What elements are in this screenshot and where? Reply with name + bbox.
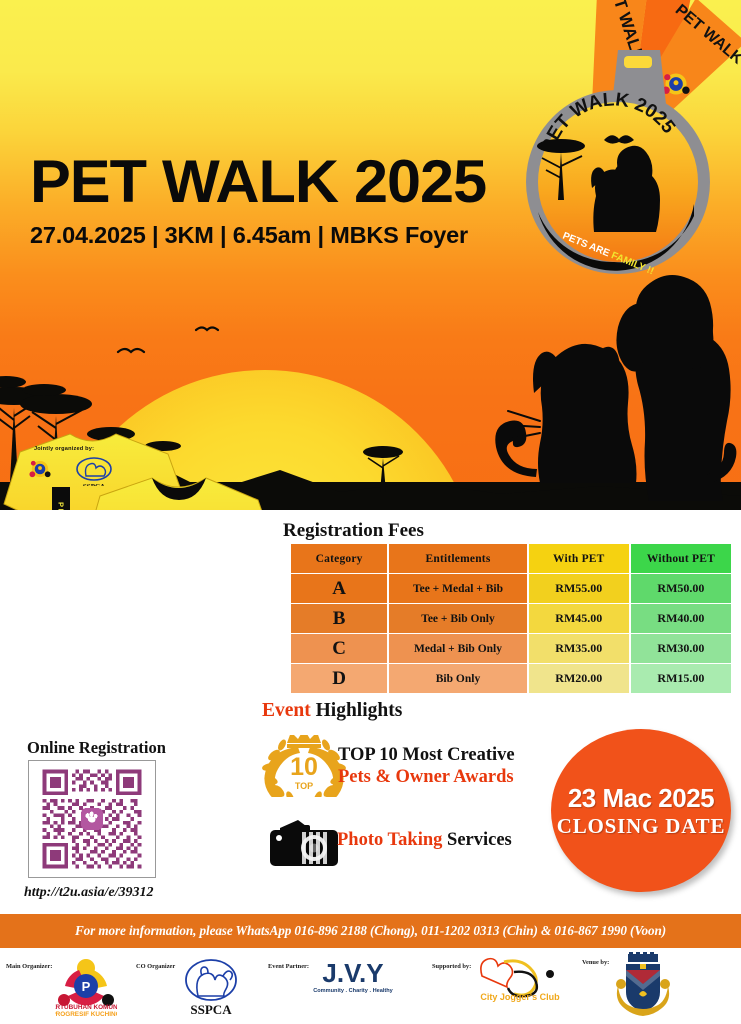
table-row: D Bib Only RM20.00 RM15.00 — [291, 664, 731, 693]
closing-date-value: 23 Mac 2025 — [568, 783, 714, 814]
online-registration-heading: Online Registration — [27, 738, 166, 758]
cell-with-pet: RM45.00 — [529, 604, 629, 633]
highlight-text-top10: TOP 10 Most Creative Pets & Owner Awards — [338, 744, 515, 788]
cell-without-pet: RM15.00 — [631, 664, 731, 693]
event-highlights-heading-accent: Event — [262, 700, 311, 721]
sponsor-label: Main Organizer: — [6, 963, 52, 970]
medal-graphic: PET WALK 20 PET WALK PET WALK 202 — [500, 0, 741, 282]
tee-sponsor-logos: SSPCA — [22, 452, 122, 486]
cell-entitlements: Medal + Bib Only — [389, 634, 526, 663]
sponsor-name-line2: PROGRESIF KUCHING — [55, 1011, 117, 1018]
contact-text: For more information, please WhatsApp 01… — [75, 923, 666, 939]
cell-entitlements: Tee + Medal + Bib — [389, 574, 526, 603]
registration-fees-heading: Registration Fees — [283, 520, 424, 542]
sponsor-name-line1: PERTUBUHAN KOMUNITI — [55, 1004, 117, 1011]
sponsor-name-line1: J.V.Y — [322, 958, 383, 988]
highlight-text-photo: Photo Taking Services — [337, 830, 512, 851]
closing-date-badge: 23 Mac 2025 CLOSING DATE — [551, 729, 731, 892]
cell-without-pet: RM30.00 — [631, 634, 731, 663]
pet-walk-poster: PET WALK 20 PET WALK PET WALK 202 — [0, 0, 741, 1024]
registration-url[interactable]: http://t2u.asia/e/39312 — [24, 885, 154, 901]
photo-rest: Services — [442, 830, 511, 850]
event-highlights-heading: Event Highlights — [262, 700, 402, 722]
cell-without-pet: RM40.00 — [631, 604, 731, 633]
cell-category: B — [291, 604, 387, 633]
cell-without-pet: RM50.00 — [631, 574, 731, 603]
col-header-without-pet: Without PET — [631, 544, 731, 573]
cell-entitlements: Bib Only — [389, 664, 526, 693]
sponsor-label: Event Partner: — [268, 963, 309, 970]
highlight-line1: TOP 10 Most Creative — [338, 744, 515, 766]
photo-accent: Photo Taking — [337, 830, 442, 850]
cell-category: D — [291, 664, 387, 693]
mbks-crest-icon — [612, 952, 674, 1020]
cat-dog-silhouette — [470, 255, 741, 510]
col-header-category: Category — [291, 544, 387, 573]
sponsor-label: CO Organizer — [136, 963, 175, 970]
city-joggers-club-logo-icon: City Jogger's Club — [474, 956, 566, 1006]
svg-text:P: P — [82, 979, 91, 994]
cell-with-pet: RM35.00 — [529, 634, 629, 663]
cell-entitlements: Tee + Bib Only — [389, 604, 526, 633]
sponsor-event-partner: Event Partner: J.V.Y Community . Charity… — [268, 956, 394, 1002]
col-header-entitlements: Entitlements — [389, 544, 526, 573]
event-highlights-heading-rest: Highlights — [311, 700, 403, 721]
top10-word: TOP — [295, 781, 313, 791]
table-row: C Medal + Bib Only RM35.00 RM30.00 — [291, 634, 731, 663]
sponsor-label: Supported by: — [432, 963, 471, 970]
cell-with-pet: RM20.00 — [529, 664, 629, 693]
sponsor-name-line2: Community . Charity . Healthy — [313, 988, 393, 994]
sponsor-venue-by: Venue by: — [582, 952, 674, 1020]
table-row: A Tee + Medal + Bib RM55.00 RM50.00 — [291, 574, 731, 603]
sponsor-name-line1: SSPCA — [191, 1002, 233, 1017]
top10-number: 10 — [290, 753, 318, 781]
jvy-logo-icon: J.V.Y Community . Charity . Healthy — [312, 956, 394, 1002]
cell-category: C — [291, 634, 387, 663]
highlight-line2: Pets & Owner Awards — [338, 766, 515, 788]
sponsor-name-line1: City Jogger's Club — [481, 992, 561, 1002]
event-details: 27.04.2025 | 3KM | 6.45am | MBKS Foyer — [30, 222, 477, 249]
sponsor-co-organizer: CO Organizer SSPCA — [136, 956, 244, 1018]
sponsor-supported-by: Supported by: City Jogger's Club — [432, 956, 566, 1006]
closing-date-label: CLOSING DATE — [557, 814, 726, 839]
contact-bar: For more information, please WhatsApp 01… — [0, 914, 741, 948]
page-title: PET WALK 2025 — [30, 152, 486, 212]
sponsor-main-organizer: Main Organizer: P PERTUBUHAN KOMUNITI PR… — [6, 956, 117, 1018]
qr-code[interactable] — [28, 760, 156, 878]
cell-category: A — [291, 574, 387, 603]
table-header-row: Category Entitlements With PET Without P… — [291, 544, 731, 573]
sponsor-footer: Main Organizer: P PERTUBUHAN KOMUNITI PR… — [0, 948, 741, 1024]
pkpk-logo-icon: P PERTUBUHAN KOMUNITI PROGRESIF KUCHING — [55, 956, 117, 1018]
sponsor-label: Venue by: — [582, 959, 609, 966]
cell-with-pet: RM55.00 — [529, 574, 629, 603]
sspca-logo-icon: SSPCA — [178, 956, 244, 1018]
table-row: B Tee + Bib Only RM45.00 RM40.00 — [291, 604, 731, 633]
col-header-with-pet: With PET — [529, 544, 629, 573]
registration-fees-table: Category Entitlements With PET Without P… — [289, 543, 733, 694]
sspca-tee-label: SSPCA — [83, 483, 105, 486]
title-block: PET WALK 2025 27.04.2025 | 3KM | 6.45am … — [30, 152, 477, 249]
